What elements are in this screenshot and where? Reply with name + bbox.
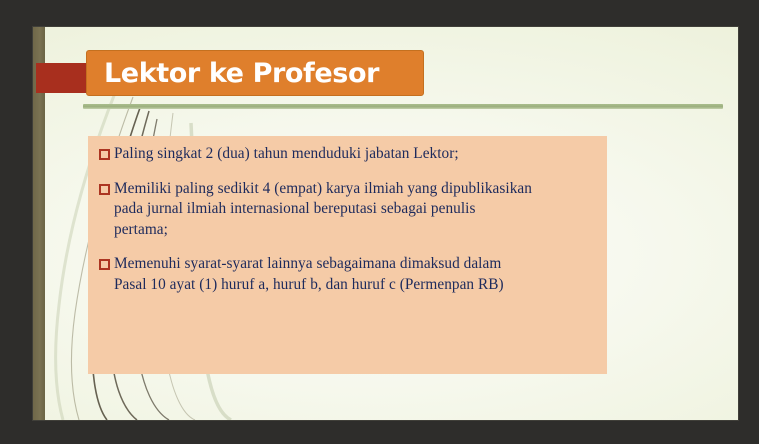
list-item: Memenuhi syarat-syarat lainnya sebagaima… (94, 254, 595, 295)
list-item: Memiliki paling sedikit 4 (empat) karya … (94, 179, 595, 241)
page-title: Lektor ke Profesor (87, 60, 379, 87)
content-panel: Paling singkat 2 (dua) tahun menduduki j… (88, 136, 607, 374)
list-item-label: Memiliki paling sedikit 4 (empat) karya … (114, 179, 532, 241)
title-banner: Lektor ke Profesor (86, 50, 424, 96)
list-item-label: Paling singkat 2 (dua) tahun menduduki j… (114, 144, 459, 165)
presentation-viewport: Lektor ke Profesor Paling singkat 2 (dua… (0, 0, 759, 444)
slide-canvas: Lektor ke Profesor Paling singkat 2 (dua… (33, 27, 738, 420)
title-accent-tab (36, 63, 89, 93)
title-divider (83, 104, 723, 109)
square-outline-bullet-icon (99, 149, 110, 160)
square-outline-bullet-icon (99, 259, 110, 270)
square-outline-bullet-icon (99, 184, 110, 195)
list-item: Paling singkat 2 (dua) tahun menduduki j… (94, 144, 595, 165)
list-item-label: Memenuhi syarat-syarat lainnya sebagaima… (114, 254, 514, 295)
